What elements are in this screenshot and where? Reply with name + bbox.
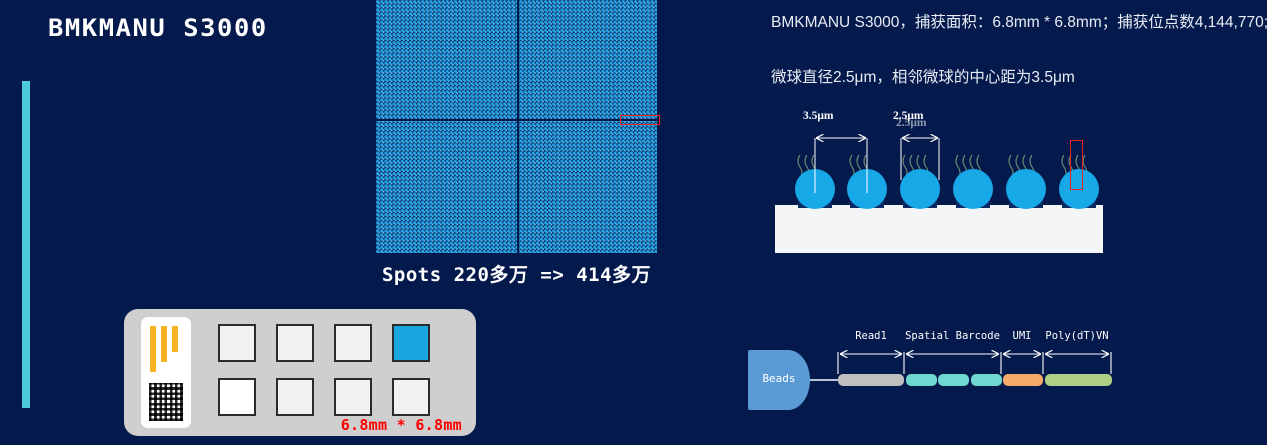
chip-label-card [141,317,191,428]
probe-highlight-box [1070,140,1083,190]
bead-oligo-structure: Beads Read1 Spatial Barcode [748,330,1143,412]
matrix-highlight-box [620,115,660,125]
chip-cell-2-2[interactable] [276,378,314,416]
chip-cell-2-4[interactable] [392,378,430,416]
description-line-2: 微球直径2.5μm，相邻微球的中心距为3.5μm [771,65,1075,87]
label-umi: UMI [1001,330,1043,342]
chip-barcode-bars-icon [148,326,184,374]
beads-label: Beads [748,372,810,385]
chip-bar-3 [172,326,178,352]
description-line-1: BMKMANU S3000，捕获面积：6.8mm * 6.8mm；捕获位点数4,… [771,10,1267,32]
chip-capture-area-grid [208,319,440,425]
chip-cell-2-1[interactable] [218,378,256,416]
spot-dot-matrix [376,0,657,253]
beads-lead-line [810,379,838,381]
chip-cell-1-2[interactable] [276,324,314,362]
chip-bar-2 [161,326,167,362]
qr-code-icon [149,383,183,421]
bead-substrate-diagram: 3.5μm 2.5μm 2.5μm [770,108,1120,253]
chip-cell-2-3[interactable] [334,378,372,416]
label-read1: Read1 [838,330,904,342]
chip-cell-1-3[interactable] [334,324,372,362]
oligo-bracket-svg [838,338,1128,378]
chip-cell-1-1[interactable] [218,324,256,362]
matrix-vertical-divider [517,0,519,253]
chip-cell-1-4[interactable] [392,324,430,362]
bead-diagram-svg [770,108,1120,253]
microfluidic-chip: 6.8mm * 6.8mm [124,309,476,436]
pitch-dimension-label: 3.5μm [803,110,833,122]
chip-bar-1 [150,326,156,372]
matrix-horizontal-divider [376,119,657,121]
beads-shape: Beads [748,350,810,410]
diameter-dimension-label-ghost: 2.5μm [896,117,926,129]
accent-bar [22,81,30,408]
chip-dimension-label: 6.8mm * 6.8mm [341,416,462,434]
page-title: BMKMANU S3000 [48,14,268,42]
spots-caption: Spots 220多万 => 414多万 [376,260,657,287]
label-poly-dt-vn: Poly(dT)VN [1043,330,1111,342]
label-spatial-barcode: Spatial Barcode [904,330,1001,342]
